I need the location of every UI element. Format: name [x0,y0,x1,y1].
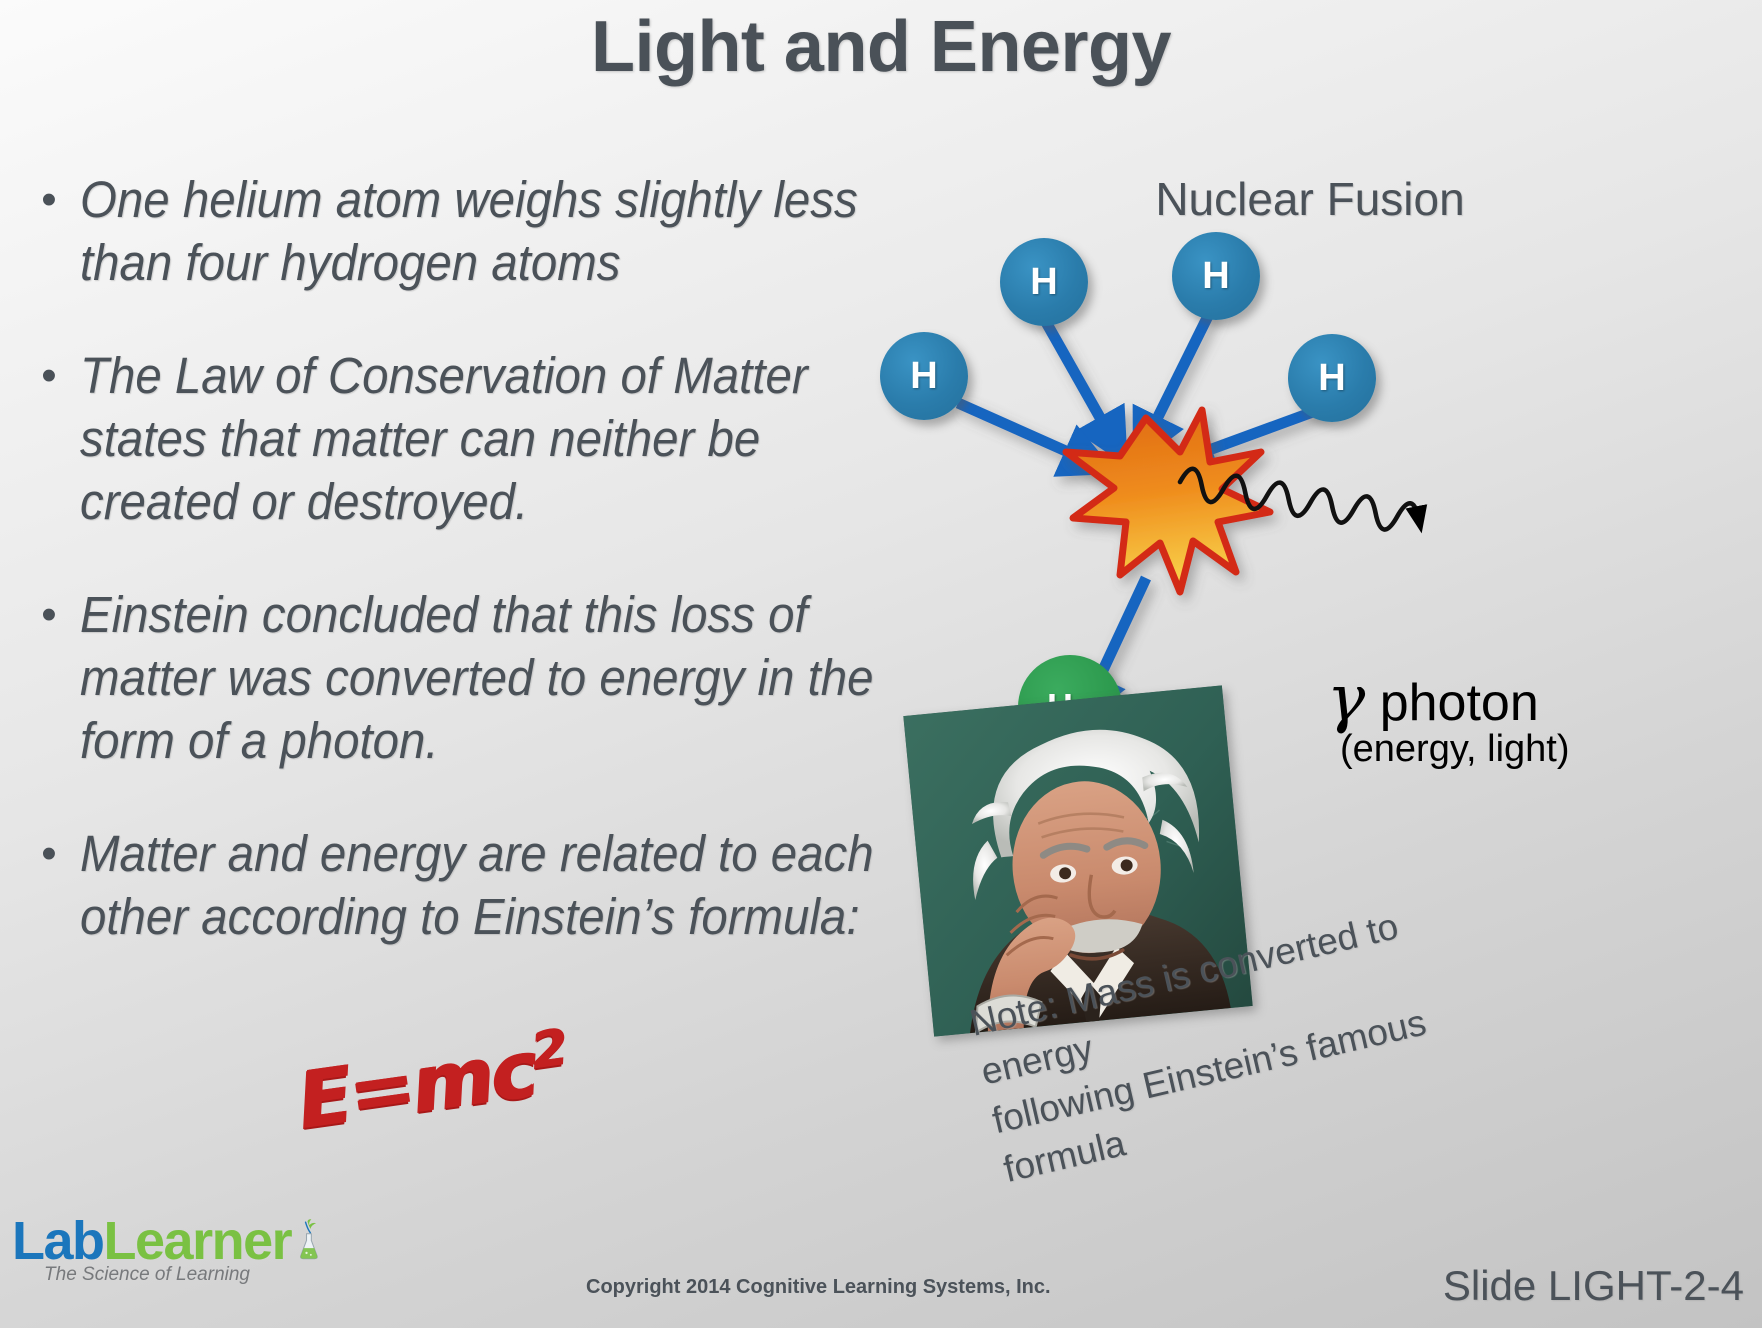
logo-learner-text: Learner [104,1211,292,1271]
bullet-text: One helium atom weighs slightly less tha… [80,168,887,294]
bullet-marker: • [18,822,80,886]
bullet-text: Einstein concluded that this loss of mat… [80,583,887,772]
bullet-list: • One helium atom weighs slightly less t… [18,168,948,998]
atom-label: H [910,355,937,398]
formula-exponent: 2 [528,1018,569,1080]
list-item: • The Law of Conservation of Matter stat… [18,344,948,533]
arrow-h1-to-burst [1038,308,1111,437]
atom-label: H [1030,261,1057,304]
atom-label: H [1318,357,1345,400]
bullet-text: The Law of Conservation of Matter states… [80,344,887,533]
bullet-text: Matter and energy are related to each ot… [80,822,887,948]
page-title: Light and Energy [0,6,1762,88]
logo-tagline: The Science of Learning [12,1264,250,1286]
bullet-marker: • [18,168,80,232]
photon-sublabel: (energy, light) [1340,728,1570,771]
formula-body: E=mc [292,1025,540,1147]
hydrogen-atom-2: H [1172,232,1260,320]
list-item: • One helium atom weighs slightly less t… [18,168,948,294]
hydrogen-atom-3: H [880,332,968,420]
logo-wordmark: LabLearner [12,1212,291,1270]
hydrogen-atom-4: H [1288,334,1376,422]
einstein-formula: E=mc2 [292,1018,573,1147]
gamma-symbol: γ [1327,662,1365,736]
photon-word: photon [1380,674,1539,732]
list-item: • Einstein concluded that this loss of m… [18,583,948,772]
bullet-marker: • [18,344,80,408]
lablearner-logo: LabLearner The Science of Learning [12,1196,322,1296]
logo-lab-text: Lab [12,1211,104,1271]
slide-canvas: Light and Energy • One helium atom weigh… [0,0,1762,1328]
hydrogen-atom-1: H [1000,238,1088,326]
list-item: • Matter and energy are related to each … [18,822,948,948]
flask-icon [295,1196,322,1282]
photon-label: γ photon [1327,662,1539,736]
copyright-notice: Copyright 2014 Cognitive Learning System… [586,1276,1051,1299]
bullet-marker: • [18,583,80,647]
atom-label: H [1202,255,1229,298]
slide-identifier: Slide LIGHT-2-4 [1443,1262,1744,1310]
